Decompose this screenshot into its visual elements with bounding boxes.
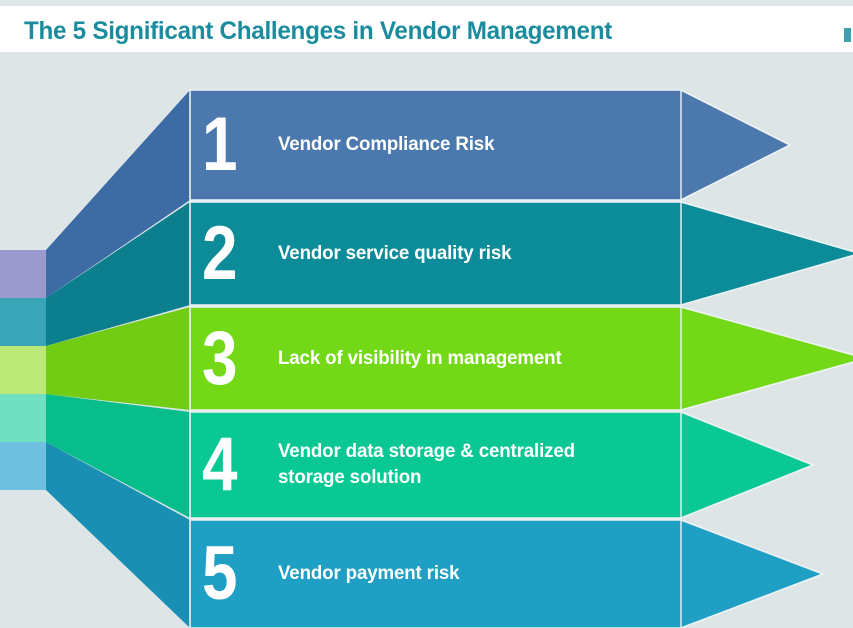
arrow-banner-5[interactable] — [190, 520, 823, 628]
color-swatch-2 — [0, 298, 46, 346]
page-title: The 5 Significant Challenges in Vendor M… — [24, 17, 612, 46]
arrow-banner-2[interactable] — [190, 202, 853, 305]
header-decoration-mark — [844, 28, 851, 42]
infographic-canvas: 1Vendor Compliance Risk2Vendor service q… — [0, 52, 853, 628]
arrow-banner-4[interactable] — [190, 412, 813, 518]
header-band: The 5 Significant Challenges in Vendor M… — [0, 6, 853, 52]
color-swatch-5 — [0, 442, 46, 490]
funnel-diagram — [0, 52, 853, 628]
left-color-swatches-group — [0, 250, 46, 490]
color-swatch-3 — [0, 346, 46, 394]
color-swatch-4 — [0, 394, 46, 442]
color-swatch-1 — [0, 250, 46, 298]
arrow-banner-1[interactable] — [190, 90, 790, 200]
arrow-banners-group — [190, 90, 853, 628]
arrow-banner-3[interactable] — [190, 307, 853, 410]
perspective-ribbons-group — [46, 90, 190, 628]
